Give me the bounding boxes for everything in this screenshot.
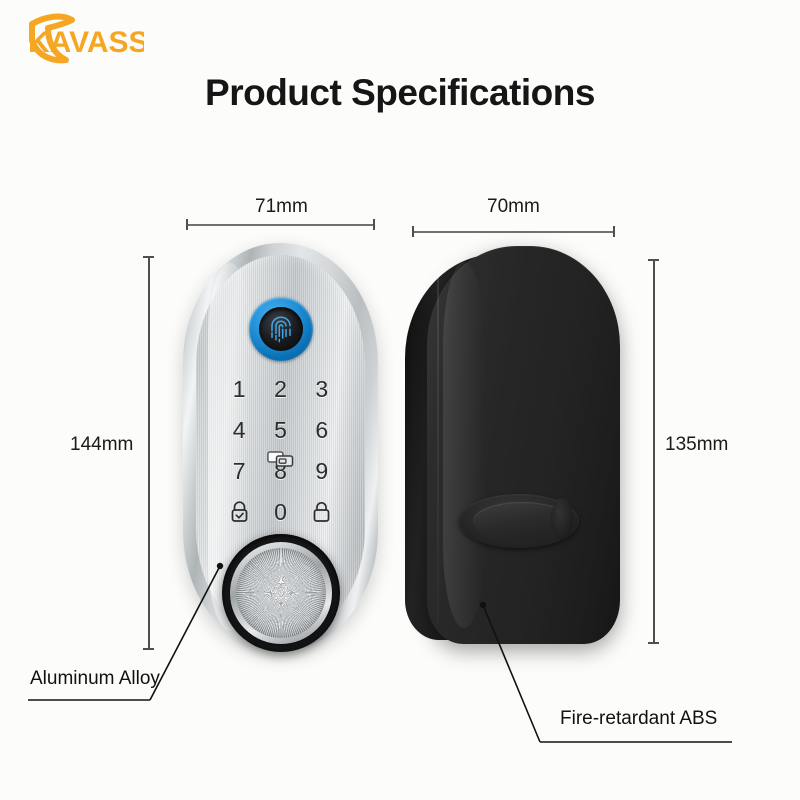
product-spec-canvas: KAVASS Product Specifications 71mm 70mm …	[0, 0, 800, 800]
callout-label-abs: Fire-retardant ABS	[560, 708, 717, 730]
callout-leader-abs	[0, 0, 800, 800]
